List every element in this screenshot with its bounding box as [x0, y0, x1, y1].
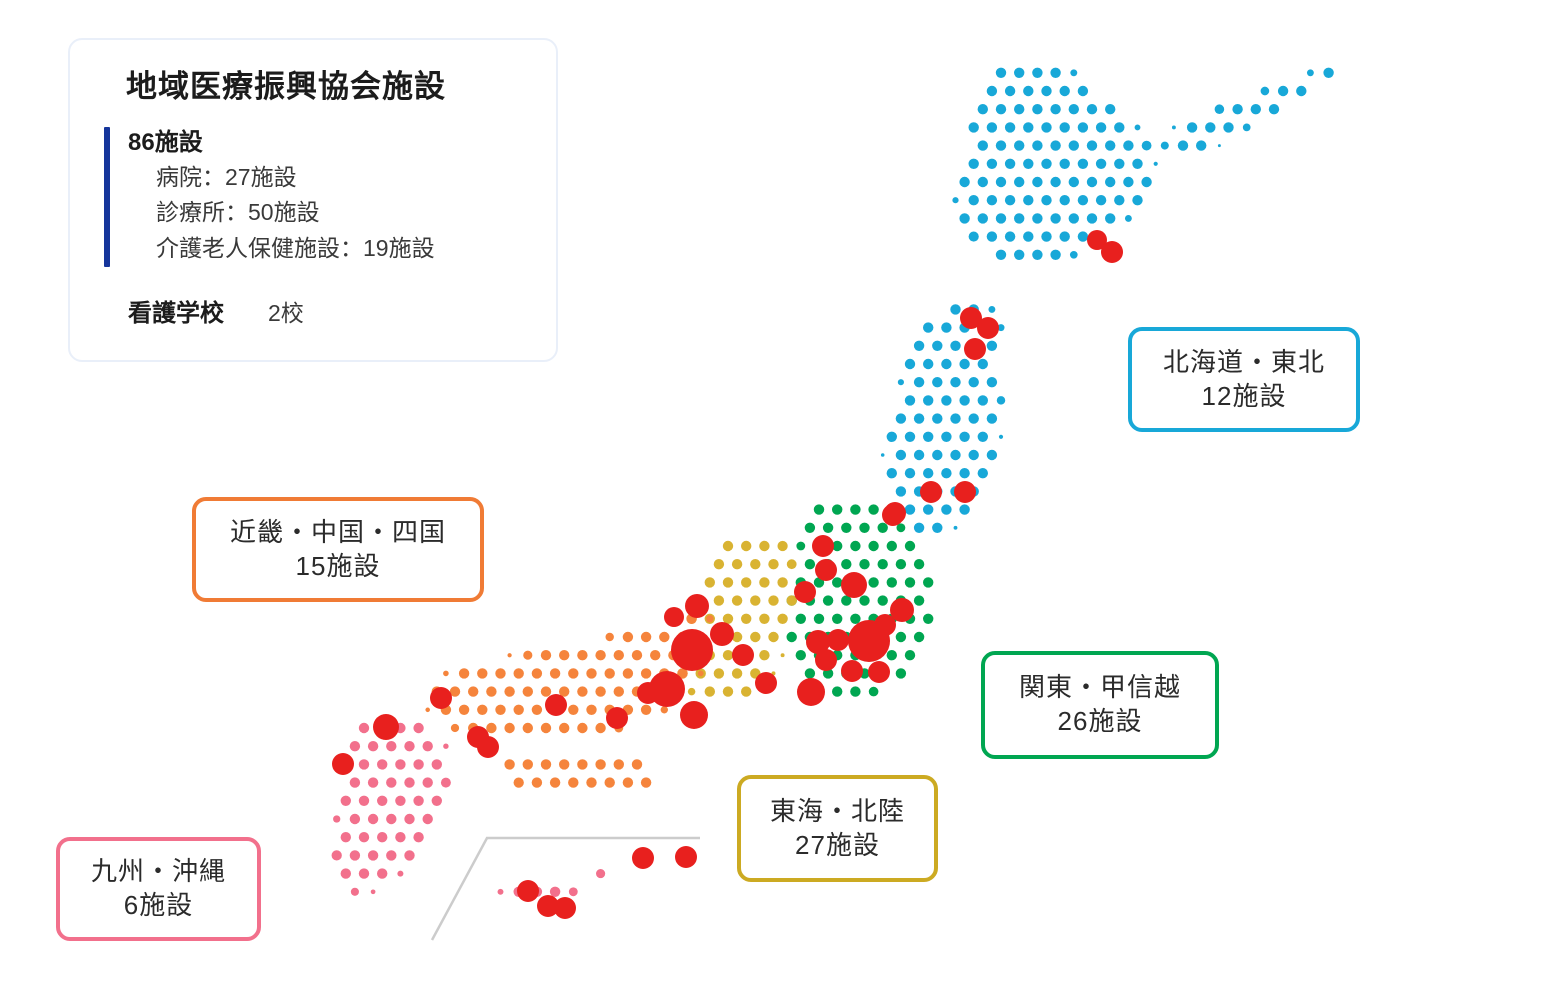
map-dot — [987, 413, 997, 423]
legend-card: 地域医療振興協会施設 86施設 病院：27施設 診療所：50施設 介護老人保健施… — [68, 38, 558, 362]
map-dot — [905, 395, 915, 405]
region-name: 北海道・東北 — [1163, 346, 1325, 380]
map-dot — [550, 887, 560, 897]
map-dot — [978, 359, 988, 369]
map-dot — [1135, 124, 1141, 130]
map-dot — [1069, 213, 1079, 223]
map-dot — [1032, 250, 1042, 260]
map-dot — [341, 868, 351, 878]
map-dot — [923, 468, 933, 478]
facility-marker[interactable] — [964, 338, 986, 360]
map-dot — [914, 377, 924, 387]
map-dot — [923, 359, 933, 369]
map-dot — [1096, 159, 1106, 169]
map-dot — [914, 450, 924, 460]
map-dot — [595, 686, 605, 696]
map-dot — [750, 559, 760, 569]
map-dot — [969, 377, 979, 387]
facility-marker[interactable] — [977, 317, 999, 339]
facility-marker[interactable] — [671, 629, 713, 671]
map-dot — [914, 632, 924, 642]
map-dot — [395, 759, 405, 769]
map-dot — [954, 526, 958, 530]
map-dot — [987, 377, 997, 387]
region-count: 27施設 — [795, 829, 880, 863]
facility-marker[interactable] — [841, 572, 867, 598]
map-dot — [868, 504, 878, 514]
facility-marker[interactable] — [848, 620, 890, 662]
map-dot — [614, 759, 624, 769]
map-dot — [999, 435, 1003, 439]
map-dot — [541, 759, 551, 769]
map-dot — [1218, 144, 1221, 147]
map-dot — [914, 559, 924, 569]
facility-marker[interactable] — [954, 481, 976, 503]
facility-marker[interactable] — [680, 701, 708, 729]
map-dot — [359, 832, 369, 842]
map-dot — [1243, 124, 1251, 132]
facility-marker[interactable] — [841, 660, 863, 682]
map-dot — [1123, 177, 1133, 187]
map-dot — [1114, 195, 1124, 205]
map-dot — [559, 759, 569, 769]
map-dot — [723, 577, 733, 587]
map-dot — [959, 468, 969, 478]
map-dot — [504, 686, 514, 696]
school-body: 看護学校 2校 — [128, 293, 526, 328]
map-dot — [988, 306, 995, 313]
facility-marker[interactable] — [812, 535, 834, 557]
region-box-kanto-koshinetsu[interactable]: 関東・甲信越 26施設 — [981, 651, 1219, 759]
map-dot — [650, 650, 660, 660]
map-dot — [1050, 177, 1060, 187]
map-dot — [468, 686, 478, 696]
map-dot — [443, 671, 449, 677]
map-dot — [413, 796, 423, 806]
map-dot — [878, 523, 888, 533]
map-dot — [896, 413, 906, 423]
map-dot — [1307, 69, 1314, 76]
map-dot — [714, 559, 724, 569]
facility-marker[interactable] — [794, 581, 816, 603]
map-dot — [850, 686, 860, 696]
map-dot — [350, 741, 360, 751]
map-dot — [814, 504, 824, 514]
facilities-item-nursing-home: 介護老人保健施設：19施設 — [156, 231, 526, 267]
map-dot — [959, 177, 969, 187]
map-dot — [996, 213, 1006, 223]
map-dot — [1087, 104, 1097, 114]
map-dot — [443, 743, 448, 748]
facility-marker[interactable] — [920, 481, 942, 503]
map-dot — [1014, 250, 1024, 260]
map-dot — [532, 777, 542, 787]
map-dot — [1050, 250, 1060, 260]
facility-marker[interactable] — [732, 644, 754, 666]
map-dot — [395, 832, 405, 842]
map-dot — [868, 577, 878, 587]
map-dot — [1041, 122, 1051, 132]
map-dot — [1154, 162, 1158, 166]
facility-marker[interactable] — [430, 687, 452, 709]
facility-marker[interactable] — [675, 846, 697, 868]
map-dot — [932, 341, 942, 351]
map-dot — [541, 686, 551, 696]
map-dot — [1232, 104, 1242, 114]
map-dot — [550, 777, 560, 787]
facility-marker[interactable] — [517, 880, 539, 902]
map-dot — [386, 741, 396, 751]
map-dot — [1005, 86, 1015, 96]
map-dot — [1323, 68, 1333, 78]
map-dot — [577, 759, 587, 769]
map-dot — [523, 759, 533, 769]
map-dot — [750, 632, 760, 642]
map-dot — [1096, 122, 1106, 132]
facility-marker[interactable] — [868, 661, 890, 683]
map-dot — [641, 668, 651, 678]
map-dot — [423, 777, 433, 787]
map-dot — [1014, 104, 1024, 114]
facility-marker[interactable] — [545, 694, 567, 716]
map-dot — [368, 814, 378, 824]
map-dot — [1078, 159, 1088, 169]
map-dot — [987, 231, 997, 241]
map-dot — [969, 450, 979, 460]
map-dot — [1251, 104, 1261, 114]
region-box-hokkaido-tohoku[interactable]: 北海道・東北 12施設 — [1128, 327, 1360, 432]
map-dot — [1060, 159, 1070, 169]
map-dot — [787, 559, 797, 569]
map-dot — [1105, 177, 1115, 187]
map-dot — [759, 577, 769, 587]
map-dot — [1078, 122, 1088, 132]
map-dot — [859, 595, 869, 605]
map-dot — [559, 723, 569, 733]
map-dot — [1070, 69, 1077, 76]
map-dot — [1114, 122, 1124, 132]
map-dot — [477, 705, 487, 715]
map-dot — [896, 668, 906, 678]
map-dot — [714, 668, 724, 678]
map-dot — [377, 832, 387, 842]
map-dot — [377, 759, 387, 769]
facilities-accent-bar — [104, 127, 110, 266]
map-dot — [698, 671, 704, 677]
map-dot — [341, 796, 351, 806]
map-dot — [1023, 231, 1033, 241]
map-dot — [523, 723, 533, 733]
map-dot — [605, 668, 615, 678]
facility-marker[interactable] — [467, 726, 489, 748]
map-dot — [741, 686, 751, 696]
map-dot — [914, 341, 924, 351]
map-dot — [878, 559, 888, 569]
map-dot — [1032, 177, 1042, 187]
map-dot — [741, 577, 751, 587]
map-dot — [451, 724, 459, 732]
map-dot — [950, 341, 960, 351]
map-dot — [614, 686, 624, 696]
map-dot — [950, 413, 960, 423]
map-dot — [1215, 104, 1225, 114]
region-name: 東海・北陸 — [770, 795, 905, 829]
map-dot — [595, 723, 605, 733]
map-dot — [350, 850, 360, 860]
map-dot — [887, 468, 897, 478]
map-dot — [905, 432, 915, 442]
facility-marker[interactable] — [606, 707, 628, 729]
map-dot — [923, 322, 933, 332]
map-dot — [905, 650, 915, 660]
map-dot — [377, 796, 387, 806]
map-dot — [359, 759, 369, 769]
map-dot — [1069, 140, 1079, 150]
map-dot — [641, 632, 651, 642]
map-dot — [1014, 68, 1024, 78]
map-dot — [1105, 140, 1115, 150]
map-dot — [413, 759, 423, 769]
map-dot — [868, 541, 878, 551]
map-dot — [1114, 159, 1124, 169]
map-dot — [905, 541, 915, 551]
map-dot — [1069, 177, 1079, 187]
map-dot — [941, 432, 951, 442]
map-dot — [941, 468, 951, 478]
legend-facilities-group: 86施設 病院：27施設 診療所：50施設 介護老人保健施設：19施設 — [104, 127, 526, 266]
map-dot — [350, 777, 360, 787]
map-dot — [477, 668, 487, 678]
facilities-item-clinic: 診療所：50施設 — [156, 195, 526, 231]
map-dot — [723, 541, 733, 551]
map-dot — [777, 541, 787, 551]
map-dot — [987, 450, 997, 460]
map-dot — [386, 777, 396, 787]
map-dot — [1060, 195, 1070, 205]
map-dot — [823, 595, 833, 605]
map-dot — [905, 359, 915, 369]
map-dot — [523, 686, 533, 696]
region-count: 15施設 — [296, 550, 381, 584]
map-dot — [1032, 104, 1042, 114]
map-dot — [641, 777, 651, 787]
facility-marker[interactable] — [797, 678, 825, 706]
map-dot — [832, 614, 842, 624]
map-dot — [1142, 141, 1152, 151]
facility-marker[interactable] — [554, 897, 576, 919]
map-dot — [732, 595, 742, 605]
map-dot — [950, 450, 960, 460]
map-dot — [978, 432, 988, 442]
map-dot — [952, 197, 958, 203]
map-dot — [941, 395, 951, 405]
map-dot — [941, 359, 951, 369]
map-dot — [959, 432, 969, 442]
map-dot — [1050, 140, 1060, 150]
map-dot — [969, 122, 979, 132]
map-dot — [413, 723, 423, 733]
map-dot — [932, 413, 942, 423]
map-dot — [1023, 86, 1033, 96]
facility-marker[interactable] — [632, 847, 654, 869]
school-count: 2校 — [268, 294, 304, 328]
map-dot — [932, 523, 942, 533]
map-dot — [586, 668, 596, 678]
map-dot — [1296, 86, 1306, 96]
map-dot — [504, 759, 514, 769]
map-dot — [959, 359, 969, 369]
map-dot — [577, 723, 587, 733]
map-dot — [723, 650, 733, 660]
facility-marker[interactable] — [815, 649, 837, 671]
map-dot — [605, 777, 615, 787]
map-dot — [397, 871, 403, 877]
map-dot — [377, 868, 387, 878]
region-box-kyushu-okinawa[interactable]: 九州・沖縄 6施設 — [56, 837, 261, 941]
map-dot — [832, 686, 842, 696]
map-dot — [359, 723, 369, 733]
map-dot — [796, 614, 806, 624]
map-dot — [641, 705, 651, 715]
map-dot — [932, 377, 942, 387]
map-dot — [905, 468, 915, 478]
map-dot — [1005, 195, 1015, 205]
map-dot — [996, 140, 1006, 150]
okinawa-inset-bracket — [432, 838, 700, 940]
map-dot — [969, 232, 979, 242]
map-dot — [568, 705, 578, 715]
map-dot — [368, 777, 378, 787]
map-dot — [759, 614, 769, 624]
facility-marker[interactable] — [1101, 241, 1123, 263]
facility-marker[interactable] — [685, 594, 709, 618]
map-dot — [550, 668, 560, 678]
map-dot — [781, 653, 785, 657]
map-dot — [923, 614, 933, 624]
map-dot — [923, 577, 933, 587]
map-dot — [1123, 140, 1133, 150]
map-dot — [541, 723, 551, 733]
map-dot — [432, 759, 442, 769]
map-dot — [805, 523, 815, 533]
map-dot — [987, 195, 997, 205]
map-dot — [569, 887, 578, 896]
map-dot — [1125, 215, 1132, 222]
map-dot — [606, 633, 614, 641]
map-dot — [987, 341, 997, 351]
map-dot — [959, 395, 969, 405]
facilities-total: 86施設 — [128, 127, 526, 159]
map-dot — [997, 396, 1006, 405]
map-dot — [661, 706, 668, 713]
map-dot — [969, 413, 979, 423]
map-dot — [1070, 251, 1078, 259]
map-dot — [371, 889, 376, 894]
facility-marker[interactable] — [710, 622, 734, 646]
facility-marker[interactable] — [373, 714, 399, 740]
map-dot — [614, 650, 624, 660]
region-box-kinki-chugoku-shikoku[interactable]: 近畿・中国・四国 15施設 — [192, 497, 484, 602]
facility-marker[interactable] — [637, 682, 659, 704]
map-dot — [1278, 86, 1288, 96]
map-dot — [495, 668, 505, 678]
map-dot — [425, 708, 430, 713]
map-dot — [498, 889, 504, 895]
map-dot — [459, 705, 469, 715]
map-dot — [978, 140, 988, 150]
map-dot — [768, 632, 778, 642]
map-dot — [887, 541, 897, 551]
map-dot — [887, 577, 897, 587]
map-dot — [368, 850, 378, 860]
map-dot — [623, 777, 633, 787]
facility-marker[interactable] — [332, 753, 354, 775]
map-dot — [532, 668, 542, 678]
map-dot — [1105, 104, 1115, 114]
map-dot — [859, 559, 869, 569]
map-dot — [351, 888, 359, 896]
map-dot — [932, 450, 942, 460]
map-dot — [368, 741, 378, 751]
map-dot — [413, 832, 423, 842]
map-dot — [632, 759, 642, 769]
map-dot — [404, 814, 414, 824]
map-dot — [832, 504, 842, 514]
map-dot — [1187, 122, 1197, 132]
map-dot — [887, 650, 897, 660]
map-dot — [850, 541, 860, 551]
region-name: 近畿・中国・四国 — [230, 516, 446, 550]
map-dot — [805, 559, 815, 569]
map-dot — [341, 832, 351, 842]
facility-marker[interactable] — [882, 504, 904, 526]
region-box-tokai-hokuriku[interactable]: 東海・北陸 27施設 — [737, 775, 938, 882]
facility-marker[interactable] — [664, 607, 684, 627]
map-dot — [514, 668, 524, 678]
map-dot — [1014, 177, 1024, 187]
facility-marker[interactable] — [815, 559, 837, 581]
map-dot — [1178, 140, 1188, 150]
map-dot — [978, 177, 988, 187]
map-dot — [1205, 122, 1215, 132]
map-dot — [1087, 177, 1097, 187]
map-dot — [841, 523, 851, 533]
map-dot — [705, 686, 715, 696]
map-dot — [1223, 122, 1233, 132]
map-dot — [896, 450, 906, 460]
map-dot — [714, 595, 724, 605]
map-dot — [732, 668, 742, 678]
map-dot — [595, 650, 605, 660]
map-dot — [532, 705, 542, 715]
map-dot — [1041, 231, 1051, 241]
map-dot — [978, 395, 988, 405]
map-dot — [881, 453, 885, 457]
map-dot — [395, 796, 405, 806]
facilities-body: 86施設 病院：27施設 診療所：50施設 介護老人保健施設：19施設 — [128, 127, 526, 266]
map-dot — [750, 595, 760, 605]
facility-marker[interactable] — [827, 629, 849, 651]
map-dot — [914, 523, 924, 533]
map-dot — [741, 541, 751, 551]
facility-marker[interactable] — [755, 672, 777, 694]
legend-school-group: 看護学校 2校 — [104, 293, 526, 328]
map-dot — [486, 686, 496, 696]
map-dot — [869, 687, 879, 697]
map-dot — [814, 614, 824, 624]
map-dot — [1141, 177, 1151, 187]
map-dot — [459, 668, 469, 678]
